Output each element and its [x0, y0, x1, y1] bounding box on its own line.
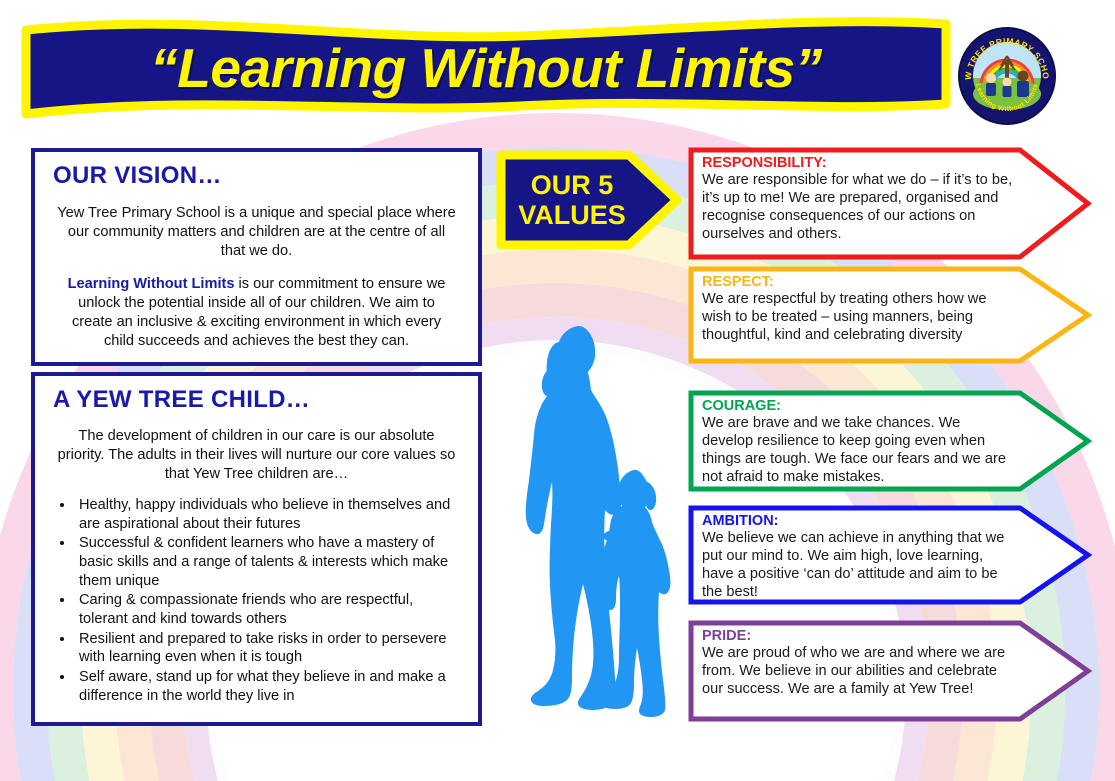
value-name-responsibility: RESPONSIBILITY: [702, 155, 1014, 171]
value-name-pride: PRIDE: [702, 628, 1014, 644]
value-arrow-responsibility: RESPONSIBILITY: We are responsible for w… [688, 147, 1092, 260]
parent-and-child-silhouette [498, 318, 688, 728]
our-5-values-badge: OUR 5 VALUES [496, 150, 682, 250]
list-item: Successful & confident learners who have… [75, 534, 460, 590]
value-arrow-respect: RESPECT: We are respectful by treating o… [688, 266, 1092, 364]
value-name-courage: COURAGE: [702, 398, 1014, 414]
a-yew-tree-child-title: A YEW TREE CHILD… [53, 386, 478, 414]
value-arrow-ambition: AMBITION: We believe we can achieve in a… [688, 505, 1092, 605]
banner-title: “Learning Without Limits” [20, 12, 952, 124]
value-text-responsibility: We are responsible for what we do – if i… [702, 171, 1014, 244]
list-item: Caring & compassionate friends who are r… [75, 591, 460, 628]
value-text-pride: We are proud of who we are and where we … [702, 644, 1014, 698]
value-text-courage: We are brave and we take chances. We dev… [702, 414, 1014, 487]
our-vision-title: OUR VISION… [53, 162, 478, 190]
value-name-ambition: AMBITION: [702, 513, 1014, 529]
our-vision-box: OUR VISION… Yew Tree Primary School is a… [31, 148, 482, 366]
list-item: Healthy, happy individuals who believe i… [75, 496, 460, 533]
values-badge-line-1: OUR 5 [531, 170, 614, 200]
our-5-values-label: OUR 5 VALUES [496, 150, 648, 250]
list-item: Resilient and prepared to take risks in … [75, 630, 460, 667]
values-badge-line-2: VALUES [518, 200, 626, 230]
value-arrow-courage: COURAGE: We are brave and we take chance… [688, 390, 1092, 492]
value-text-ambition: We believe we can achieve in anything th… [702, 529, 1014, 602]
list-item: Self aware, stand up for what they belie… [75, 668, 460, 705]
a-yew-tree-child-bullet-list: Healthy, happy individuals who believe i… [75, 496, 460, 705]
value-arrow-pride: PRIDE: We are proud of who we are and wh… [688, 620, 1092, 722]
our-vision-paragraph-2: Learning Without Limits is our commitmen… [57, 275, 456, 351]
our-vision-paragraph-1: Yew Tree Primary School is a unique and … [57, 204, 456, 261]
poster-root: “Learning Without Limits” [0, 0, 1115, 781]
learning-without-limits-keyword: Learning Without Limits [68, 276, 235, 292]
school-crest-logo: YEW TREE PRIMARY SCHOOL Learning Without… [957, 26, 1057, 126]
a-yew-tree-child-box: A YEW TREE CHILD… The development of chi… [31, 372, 482, 726]
value-name-respect: RESPECT: [702, 274, 1014, 290]
a-yew-tree-child-intro: The development of children in our care … [57, 427, 456, 484]
value-text-respect: We are respectful by treating others how… [702, 290, 1014, 344]
title-banner: “Learning Without Limits” [20, 12, 952, 124]
